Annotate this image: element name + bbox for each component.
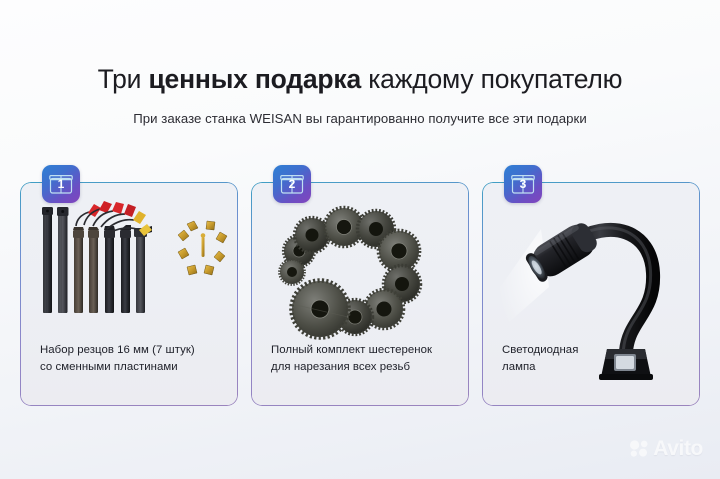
gift-card-2[interactable]: Полный комплект шестеренок для нарезания…	[251, 182, 469, 406]
gift-card-3-number: 3	[504, 178, 542, 190]
caption-line-1: Набор резцов 16 мм (7 штук)	[40, 344, 195, 356]
gift-card-3-badge: 3	[504, 165, 542, 203]
page-subtitle: При заказе станка WEISAN вы гарантирован…	[0, 110, 720, 128]
caption-line-2: лампа	[502, 361, 536, 373]
caption-line-1: Светодиодная	[502, 344, 578, 356]
led-lamp-photo	[483, 199, 699, 345]
caption-line-2: со сменными пластинами	[40, 361, 178, 373]
avito-wordmark: Avito	[653, 438, 703, 459]
lathe-tool-set-photo	[21, 199, 237, 345]
gift-card-3[interactable]: Светодиодная лампа 3	[482, 182, 700, 406]
gift-card-2-body: Полный комплект шестеренок для нарезания…	[252, 183, 468, 405]
page-title: Три ценных подарка каждому покупателю	[0, 62, 720, 96]
title-tail: каждому покупателю	[361, 64, 622, 94]
gift-card-1-badge: 1	[42, 165, 80, 203]
gift-card-1-number: 1	[42, 178, 80, 190]
title-strong: ценных подарка	[148, 64, 361, 94]
caption-line-2: для нарезания всех резьб	[271, 361, 410, 373]
gift-card-1-caption: Набор резцов 16 мм (7 штук) со сменными …	[40, 342, 225, 375]
promo-banner: Три ценных подарка каждому покупателю Пр…	[0, 0, 720, 479]
gift-card-2-number: 2	[273, 178, 311, 190]
gift-cards-row: Набор резцов 16 мм (7 штук) со сменными …	[20, 182, 700, 406]
avito-logo-icon	[629, 440, 649, 457]
gift-card-3-caption: Светодиодная лампа	[502, 342, 687, 375]
header: Три ценных подарка каждому покупателю Пр…	[0, 62, 720, 128]
gift-card-2-badge: 2	[273, 165, 311, 203]
gift-card-1[interactable]: Набор резцов 16 мм (7 штук) со сменными …	[20, 182, 238, 406]
gift-card-3-body: Светодиодная лампа	[483, 183, 699, 405]
gift-card-2-caption: Полный комплект шестеренок для нарезания…	[271, 342, 456, 375]
gear-set-photo	[252, 199, 468, 345]
title-lead: Три	[98, 64, 149, 94]
gift-card-1-body: Набор резцов 16 мм (7 штук) со сменными …	[21, 183, 237, 405]
caption-line-1: Полный комплект шестеренок	[271, 344, 432, 356]
avito-watermark: Avito	[629, 438, 703, 459]
